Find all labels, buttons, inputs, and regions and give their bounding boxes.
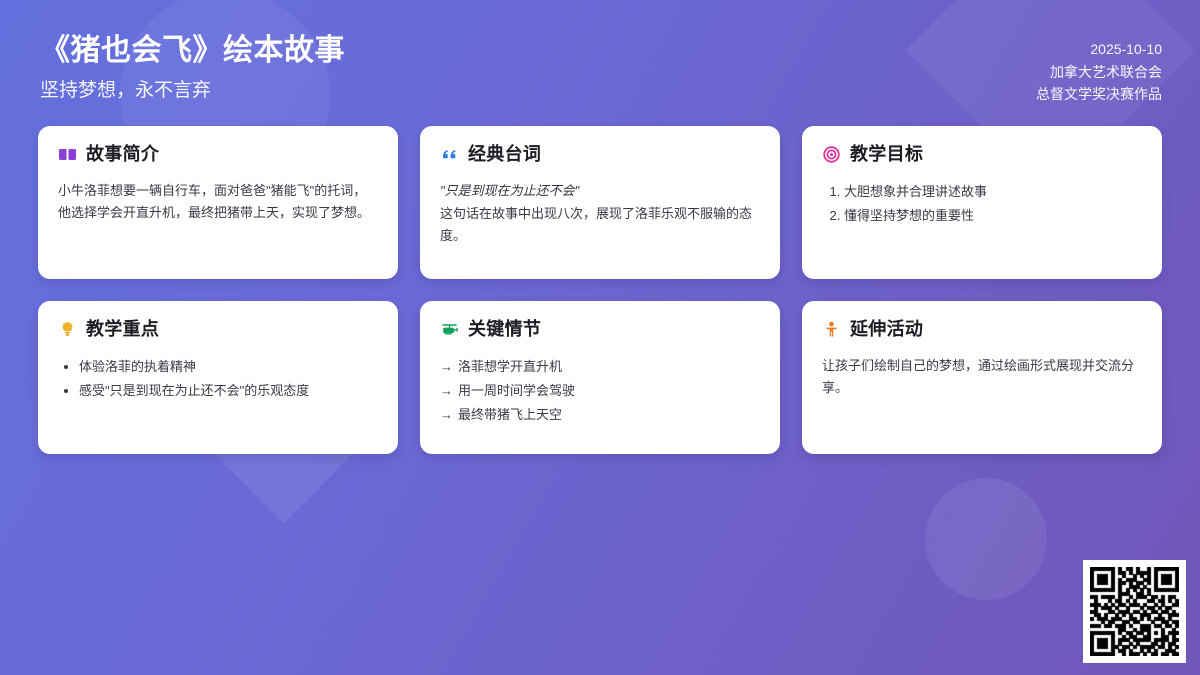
arrow-icon: → xyxy=(440,407,453,422)
card-story-summary[interactable]: 故事简介 小牛洛菲想要一辆自行车，面对爸爸"猪能飞"的托词，他选择学会开直升机，… xyxy=(38,126,398,279)
card-title: 经典台词 xyxy=(468,144,541,166)
card-teaching-focus[interactable]: 教学重点 体验洛菲的执着精神 感受"只是到现在为止还不会"的乐观态度 xyxy=(38,301,398,454)
quote-icon xyxy=(440,145,459,164)
slide-subtitle: 坚持梦想，永不言弃 xyxy=(40,77,345,106)
card-header: 经典台词 xyxy=(440,144,760,166)
focus-list: 体验洛菲的执着精神 感受"只是到现在为止还不会"的乐观态度 xyxy=(58,355,378,403)
plot-list: →洛菲想学开直升机 →用一周时间学会驾驶 →最终带猪飞上天空 xyxy=(440,355,760,427)
card-header: 关键情节 xyxy=(440,319,760,341)
slide-title: 《猪也会飞》绘本故事 xyxy=(40,32,345,70)
slide-header: 《猪也会飞》绘本故事 坚持梦想，永不言弃 2025-10-10 加拿大艺术联合会… xyxy=(0,0,1200,118)
list-item: →用一周时间学会驾驶 xyxy=(440,379,760,403)
card-grid: 故事简介 小牛洛菲想要一辆自行车，面对爸爸"猪能飞"的托词，他选择学会开直升机，… xyxy=(38,126,1162,454)
list-item-label: 最终带猪飞上天空 xyxy=(458,407,562,422)
qr-code-image xyxy=(1090,567,1179,656)
presentation-slide: 《猪也会飞》绘本故事 坚持梦想，永不言弃 2025-10-10 加拿大艺术联合会… xyxy=(0,0,1200,675)
card-teaching-goals[interactable]: 教学目标 大胆想象并合理讲述故事 懂得坚持梦想的重要性 xyxy=(802,126,1162,279)
title-block: 《猪也会飞》绘本故事 坚持梦想，永不言弃 xyxy=(40,32,345,105)
card-header: 故事简介 xyxy=(58,144,378,166)
card-key-plot[interactable]: 关键情节 →洛菲想学开直升机 →用一周时间学会驾驶 →最终带猪飞上天空 xyxy=(420,301,780,454)
quote-explanation: 这句话在故事中出现八次，展现了洛菲乐观不服输的态度。 xyxy=(440,203,760,248)
card-body: 大胆想象并合理讲述故事 懂得坚持梦想的重要性 xyxy=(822,180,1142,228)
list-item: →洛菲想学开直升机 xyxy=(440,355,760,379)
qr-code[interactable] xyxy=(1083,560,1186,663)
card-header: 教学目标 xyxy=(822,144,1142,166)
slide-meta: 2025-10-10 加拿大艺术联合会 总督文学奖决赛作品 xyxy=(1036,38,1162,106)
list-item-label: 用一周时间学会驾驶 xyxy=(458,383,575,398)
meta-date: 2025-10-10 xyxy=(1036,38,1162,61)
quote-text: "只是到现在为止还不会" xyxy=(440,180,760,202)
card-extension-activity[interactable]: 延伸活动 让孩子们绘制自己的梦想，通过绘画形式展现并交流分享。 xyxy=(802,301,1162,454)
arrow-icon: → xyxy=(440,359,453,374)
card-body: 让孩子们绘制自己的梦想，通过绘画形式展现并交流分享。 xyxy=(822,355,1142,400)
card-header: 教学重点 xyxy=(58,319,378,341)
card-header: 延伸活动 xyxy=(822,319,1142,341)
goals-list: 大胆想象并合理讲述故事 懂得坚持梦想的重要性 xyxy=(822,180,1142,228)
card-body: "只是到现在为止还不会" 这句话在故事中出现八次，展现了洛菲乐观不服输的态度。 xyxy=(440,180,760,248)
card-title: 关键情节 xyxy=(468,319,541,341)
list-item: 体验洛菲的执着精神 xyxy=(79,355,378,379)
card-classic-line[interactable]: 经典台词 "只是到现在为止还不会" 这句话在故事中出现八次，展现了洛菲乐观不服输… xyxy=(420,126,780,279)
card-title: 故事简介 xyxy=(86,144,159,166)
list-item: 大胆想象并合理讲述故事 xyxy=(844,180,1142,204)
card-body: 小牛洛菲想要一辆自行车，面对爸爸"猪能飞"的托词，他选择学会开直升机，最终把猪带… xyxy=(58,180,378,225)
list-item-label: 洛菲想学开直升机 xyxy=(458,359,562,374)
target-icon xyxy=(822,145,841,164)
decorative-circle-bottom-right xyxy=(925,478,1047,600)
meta-organization: 加拿大艺术联合会 xyxy=(1036,61,1162,84)
lightbulb-icon xyxy=(58,320,77,339)
person-icon xyxy=(822,320,841,339)
card-title: 延伸活动 xyxy=(850,319,923,341)
list-item: 感受"只是到现在为止还不会"的乐观态度 xyxy=(79,379,378,403)
helicopter-icon xyxy=(440,320,459,339)
list-item: 懂得坚持梦想的重要性 xyxy=(844,204,1142,228)
card-title: 教学重点 xyxy=(86,319,159,341)
arrow-icon: → xyxy=(440,383,453,398)
card-body: 体验洛菲的执着精神 感受"只是到现在为止还不会"的乐观态度 xyxy=(58,355,378,403)
card-body: →洛菲想学开直升机 →用一周时间学会驾驶 →最终带猪飞上天空 xyxy=(440,355,760,427)
card-title: 教学目标 xyxy=(850,144,923,166)
meta-award: 总督文学奖决赛作品 xyxy=(1036,83,1162,106)
open-book-icon xyxy=(58,145,77,164)
list-item: →最终带猪飞上天空 xyxy=(440,403,760,427)
